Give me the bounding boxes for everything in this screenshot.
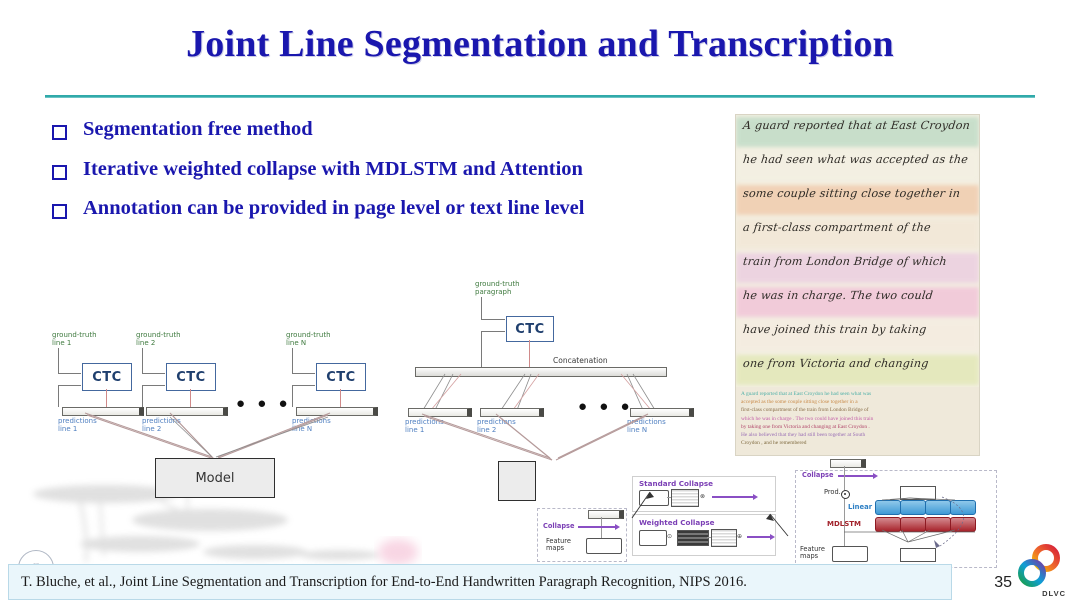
wire	[142, 385, 165, 386]
transcription-line: first-class compartment of the train fro…	[741, 406, 974, 414]
wire	[292, 385, 293, 407]
wire	[481, 319, 505, 320]
handwriting-line: he had seen what was accepted as the	[736, 149, 979, 183]
handwriting-text: some couple sitting close together in	[742, 187, 975, 200]
handwriting-line: have joined this train by taking	[736, 319, 979, 353]
handwriting-line: train from London Bridge of which	[736, 251, 979, 285]
attention-connections	[790, 470, 1000, 570]
handwriting-line: A guard reported that at East Croydon	[736, 115, 979, 149]
handwriting-text: have joined this train by taking	[742, 323, 975, 336]
model-box: Model	[155, 458, 275, 498]
handwriting-sample-image: A guard reported that at East Croydon he…	[735, 114, 980, 456]
ground-truth-label: ground-truth line 1	[52, 331, 97, 347]
hollow-square-icon	[52, 165, 67, 180]
ctc-box: CTC	[82, 363, 132, 391]
handwriting-text: A guard reported that at East Croydon	[742, 119, 975, 132]
wire	[142, 348, 143, 374]
handwriting-text: he had seen what was accepted as the	[742, 153, 975, 166]
transcription-line: by taking one from Victoria and changing…	[741, 423, 974, 431]
ground-truth-label: ground-truth line N	[286, 331, 331, 347]
citation-footer: T. Bluche, et al., Joint Line Segmentati…	[8, 564, 952, 600]
slide-canvas: 印 Joint Line Segmentation and Transcript…	[0, 0, 1080, 608]
wire	[58, 348, 59, 374]
wire	[481, 331, 482, 367]
wire	[292, 373, 315, 374]
wire	[481, 297, 482, 319]
page-title: Joint Line Segmentation and Transcriptio…	[0, 22, 1080, 66]
handwriting-text: he was in charge. The two could	[742, 289, 975, 302]
dlvc-logo-text: DLVC	[1042, 589, 1066, 598]
wire	[481, 331, 505, 332]
fan-connections	[40, 405, 390, 465]
fan-connections-down	[400, 408, 700, 464]
collapsed-slab	[830, 459, 866, 468]
inset-connector-lines	[610, 470, 800, 570]
collapse-label: Collapse	[543, 523, 574, 530]
transcription-line: He also believed that they had still bee…	[741, 431, 974, 439]
transcription-line: Croydon , and he remembered	[741, 439, 974, 447]
ctc-box: CTC	[316, 363, 366, 391]
bullet-text: Segmentation free method	[83, 118, 313, 142]
wire	[529, 340, 530, 367]
handwriting-line: a first-class compartment of the	[736, 217, 979, 251]
transcription-line: accepted as the some couple sitting clos…	[741, 398, 974, 406]
ground-truth-label: ground-truth line 2	[136, 331, 181, 347]
wire	[292, 348, 293, 374]
transcription-line: which he was in charge . The two could h…	[741, 415, 974, 423]
transcription-line: A guard reported that at East Croydon he…	[741, 390, 974, 398]
wire	[58, 385, 59, 407]
concatenation-label: Concatenation	[553, 356, 608, 365]
model-box-blank	[498, 461, 536, 501]
feature-maps-label: Feature maps	[546, 538, 571, 552]
handwriting-line: one from Victoria and changing	[736, 353, 979, 387]
ground-truth-label: ground-truth paragraph	[475, 280, 520, 296]
handwriting-text: one from Victoria and changing	[742, 357, 975, 370]
wire	[292, 385, 315, 386]
hollow-square-icon	[52, 204, 67, 219]
handwriting-text: train from London Bridge of which	[742, 255, 975, 268]
handwriting-line: some couple sitting close together in	[736, 183, 979, 217]
ctc-box: CTC	[166, 363, 216, 391]
citation-text: T. Bluche, et al., Joint Line Segmentati…	[21, 574, 747, 591]
ctc-box: CTC	[506, 316, 554, 342]
handwriting-line: he was in charge. The two could	[736, 285, 979, 319]
wire	[142, 385, 143, 407]
title-divider	[45, 95, 1035, 98]
wire	[142, 373, 165, 374]
handwriting-text: a first-class compartment of the	[742, 221, 975, 234]
handwriting-lines: A guard reported that at East Croydon he…	[736, 115, 979, 387]
bullet-text: Iterative weighted collapse with MDLSTM …	[83, 158, 583, 182]
wire	[58, 385, 81, 386]
transcription-block: A guard reported that at East Croydon he…	[736, 387, 979, 455]
bullet-text: Annotation can be provided in page level…	[83, 197, 584, 221]
bullet-list: Segmentation free method Iterative weigh…	[52, 118, 752, 237]
list-item: Annotation can be provided in page level…	[52, 197, 752, 221]
list-item: Iterative weighted collapse with MDLSTM …	[52, 158, 752, 182]
list-item: Segmentation free method	[52, 118, 752, 142]
hollow-square-icon	[52, 125, 67, 140]
wire	[58, 373, 81, 374]
